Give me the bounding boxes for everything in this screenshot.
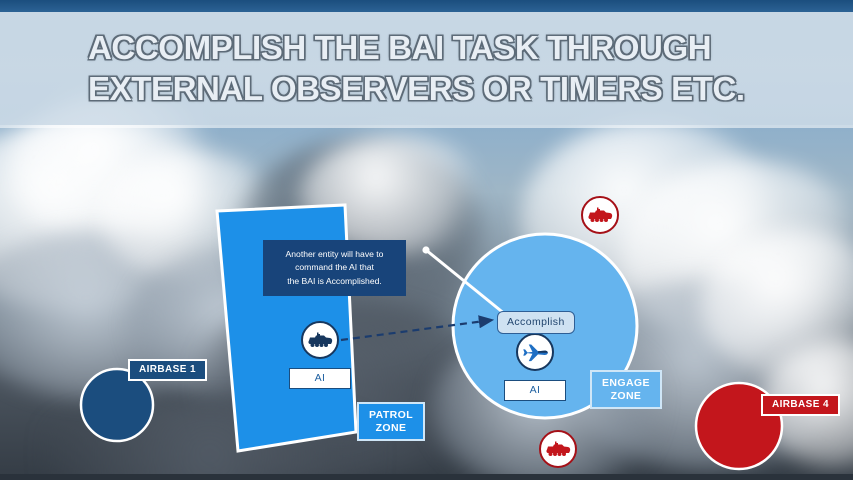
red-ground-unit-north-icon-wrapper[interactable] [581,196,619,234]
patrol-zone-label[interactable]: PATROL ZONE [357,402,425,441]
engage-zone-label[interactable]: ENGAGE ZONE [590,370,662,409]
armored-vehicle-icon [587,206,613,224]
fighter-jet-icon [522,339,549,366]
accomplish-task-label[interactable]: Accomplish [497,311,575,334]
bottom-bar [0,474,853,480]
slide-canvas: ACCOMPLISH THE BAI TASK THROUGH EXTERNAL… [0,0,853,480]
airbase-1-label[interactable]: AIRBASE 1 [128,359,207,381]
blue-ground-unit-icon-wrapper[interactable] [301,321,339,359]
armored-vehicle-icon [307,331,333,349]
blue-aircraft-unit-label: AI [504,380,566,401]
diagram-shapes-layer [0,0,853,480]
red-ground-unit-south-icon-wrapper[interactable] [539,430,577,468]
blue-ground-unit-label: AI [289,368,351,389]
airbase-4-label[interactable]: AIRBASE 4 [761,394,840,416]
leader-line-start-dot [422,246,429,253]
blue-aircraft-unit-icon-wrapper[interactable] [516,333,554,371]
armored-vehicle-icon [545,440,571,458]
callout-textbox: Another entity will have to command the … [263,240,406,296]
